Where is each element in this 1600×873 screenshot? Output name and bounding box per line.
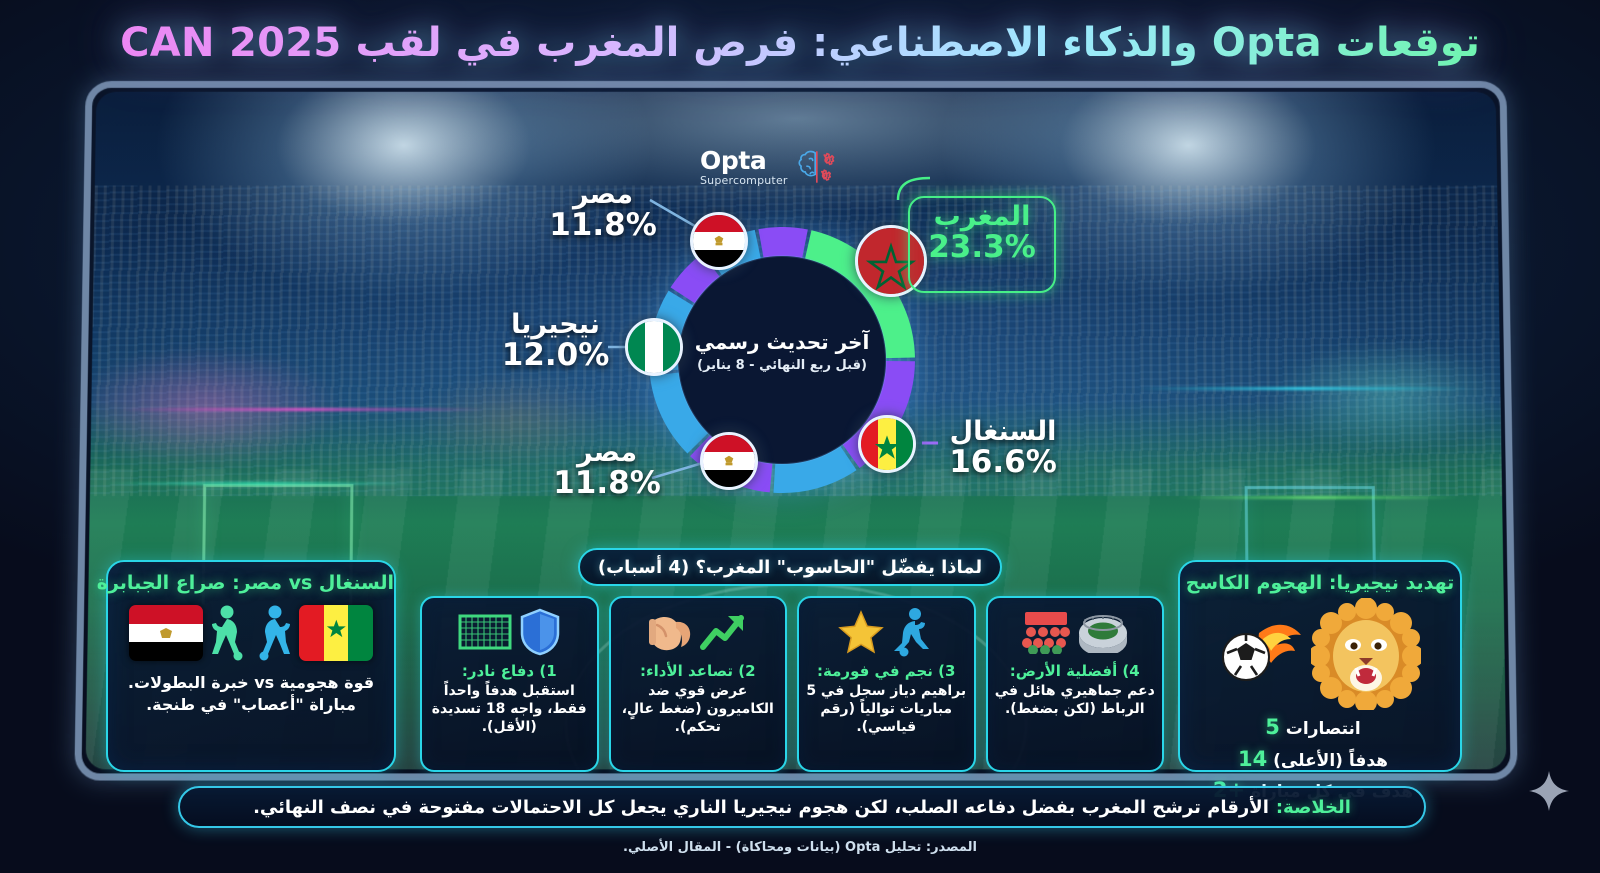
opta-logo-subtitle: Supercomputer bbox=[700, 175, 788, 186]
flexed-bicep-icon bbox=[647, 611, 693, 653]
slice-name: نيجيريا bbox=[498, 310, 613, 339]
page-title: توقعات Opta والذكاء الاصطناعي: فرص المغر… bbox=[0, 20, 1600, 66]
panel-left-title: السنغال vs مصر: صراع الجبابرة bbox=[108, 572, 394, 594]
stadium-icon bbox=[1077, 611, 1129, 653]
nigeria-flag-badge bbox=[625, 318, 683, 376]
reason-card-2: 2) تصاعد الأداء: عرض قوي ضد الكاميرون (ض… bbox=[609, 596, 788, 772]
matchup-graphic bbox=[108, 604, 394, 662]
slice-label-morocco: المغرب 23.3% bbox=[908, 202, 1056, 265]
goal-net-icon bbox=[457, 610, 513, 654]
reason-card-4: 4) أفضلية الأرض: دعم جماهيري هائل في الر… bbox=[986, 596, 1165, 772]
card-body: استقبل هدفاً واحداً فقط، واجه 18 تسديدة … bbox=[428, 682, 591, 737]
egypt-flag-badge-top bbox=[690, 212, 748, 270]
conclusion-bar: الخلاصة: الأرقام ترشح المغرب بفضل دفاعه … bbox=[178, 786, 1426, 828]
reasons-header-text: لماذا يفضّل "الحاسوب" المغرب؟ (4 أسباب) bbox=[598, 557, 982, 578]
card-title: 4) أفضلية الأرض: bbox=[1010, 662, 1140, 680]
slice-label-senegal: السنغال 16.6% bbox=[928, 417, 1078, 480]
donut-center-disc bbox=[678, 256, 886, 464]
card-body: عرض قوي ضد الكاميرون (ضغط عالٍ، تحكم). bbox=[617, 682, 780, 737]
stat-number: 5 bbox=[1265, 715, 1280, 739]
slice-value: 23.3% bbox=[908, 231, 1056, 264]
egypt-flag bbox=[129, 605, 203, 661]
slice-name: مصر bbox=[552, 438, 662, 467]
crowd-stand-icon bbox=[1021, 610, 1071, 654]
opta-brain-gear-icon bbox=[796, 148, 836, 186]
lion-icon bbox=[1311, 598, 1421, 710]
reason-card-1: 1) دفاع نادر: استقبل هدفاً واحداً فقط، و… bbox=[420, 596, 599, 772]
slice-label-egypt-top: مصر 11.8% bbox=[548, 180, 658, 243]
egypt-eagle-icon bbox=[703, 435, 755, 487]
egypt-flag-badge-bottom bbox=[700, 432, 758, 490]
panel-nigeria-threat: تهديد نيجيريا: الهجوم الكاسح bbox=[1178, 560, 1462, 772]
neon-streak bbox=[1177, 496, 1459, 499]
infographic-root: توقعات Opta والذكاء الاصطناعي: فرص المغر… bbox=[0, 0, 1600, 873]
stat-row: انتصارات 5 bbox=[1180, 712, 1446, 744]
donut-slice bbox=[758, 227, 807, 258]
nigeria-visuals bbox=[1180, 598, 1460, 710]
slice-name: المغرب bbox=[908, 202, 1056, 231]
stat-number: 14 bbox=[1238, 747, 1267, 771]
reason-cards: 4) أفضلية الأرض: دعم جماهيري هائل في الر… bbox=[420, 596, 1164, 772]
slice-value: 11.8% bbox=[552, 467, 662, 500]
flaming-football-icon bbox=[1219, 623, 1305, 685]
card-title: 2) تصاعد الأداء: bbox=[640, 662, 756, 680]
slice-name: السنغال bbox=[928, 417, 1078, 446]
neon-streak bbox=[1134, 387, 1472, 390]
opta-logo-name: Opta bbox=[700, 148, 788, 173]
source-line: المصدر: تحليل Opta (بيانات ومحاكاة) - ال… bbox=[0, 840, 1600, 855]
neon-streak bbox=[104, 482, 415, 485]
card-title: 1) دفاع نادر: bbox=[462, 662, 557, 680]
player-silhouette-green-icon bbox=[207, 604, 249, 662]
slice-label-egypt-bottom: مصر 11.8% bbox=[552, 438, 662, 501]
card-title: 3) نجم في فورمة: bbox=[817, 662, 955, 680]
reasons-header-pill: لماذا يفضّل "الحاسوب" المغرب؟ (4 أسباب) bbox=[578, 548, 1002, 586]
slice-name: مصر bbox=[548, 180, 658, 209]
slice-label-nigeria: نيجيريا 12.0% bbox=[498, 310, 613, 373]
slice-value: 16.6% bbox=[928, 446, 1078, 479]
reason-card-3: 3) نجم في فورمة: براهيم دياز سجل في 5 مب… bbox=[797, 596, 976, 772]
opta-logo: Opta Supercomputer bbox=[700, 148, 836, 186]
senegal-flag-badge bbox=[858, 415, 916, 473]
conclusion-text: الأرقام ترشح المغرب بفضل دفاعه الصلب، لك… bbox=[253, 797, 1269, 818]
card-icons bbox=[838, 606, 934, 658]
sparkle-icon bbox=[1528, 770, 1570, 812]
panel-senegal-vs-egypt: السنغال vs مصر: صراع الجبابرة bbox=[106, 560, 396, 772]
stat-row: هدفاً (الأعلى) 14 bbox=[1180, 744, 1446, 776]
star-icon bbox=[838, 609, 884, 655]
card-body: دعم جماهيري هائل في الرباط (لكن بضغط). bbox=[994, 682, 1157, 718]
panel-right-title: تهديد نيجيريا: الهجوم الكاسح bbox=[1180, 572, 1460, 594]
neon-streak bbox=[119, 408, 485, 411]
stat-text: هدفاً (الأعلى) bbox=[1273, 751, 1388, 771]
trending-up-icon bbox=[699, 611, 749, 653]
senegal-star-icon bbox=[324, 605, 349, 651]
conclusion-key: الخلاصة: bbox=[1276, 797, 1351, 818]
nigeria-flag bbox=[628, 321, 680, 373]
slice-value: 11.8% bbox=[548, 209, 658, 242]
card-body: براهيم دياز سجل في 5 مباريات توالياً (رق… bbox=[805, 682, 968, 737]
card-icons bbox=[457, 606, 561, 658]
slice-value: 12.0% bbox=[498, 339, 613, 372]
shield-icon bbox=[519, 608, 561, 656]
card-icons bbox=[1021, 606, 1129, 658]
senegal-star-icon bbox=[861, 418, 913, 470]
card-icons bbox=[647, 606, 749, 658]
panel-left-caption: قوة هجومية vs خبرة البطولات. مباراة "أعص… bbox=[108, 672, 394, 715]
egypt-eagle-icon bbox=[693, 215, 745, 267]
egypt-eagle-icon bbox=[129, 624, 203, 643]
senegal-flag bbox=[299, 605, 373, 661]
stat-text: انتصارات bbox=[1286, 719, 1361, 739]
player-silhouette-blue-icon bbox=[253, 604, 295, 662]
player-kick-icon bbox=[890, 607, 934, 657]
